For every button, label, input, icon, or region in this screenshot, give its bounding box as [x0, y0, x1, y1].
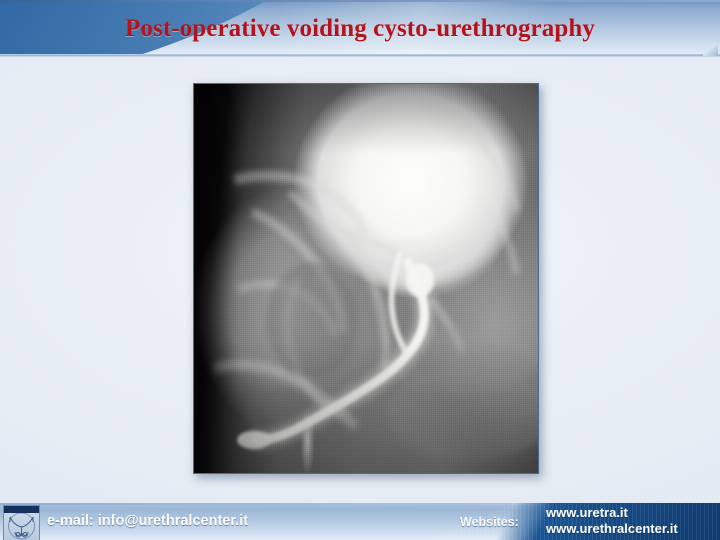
- footer-websites-list: www.uretra.it www.urethralcenter.it: [546, 505, 678, 537]
- radiograph-grain: [194, 84, 538, 473]
- urethral-center-logo: [3, 505, 40, 540]
- slide-footer: e-mail: info@urethralcenter.it Websites:…: [0, 503, 720, 540]
- radiograph-figure: [193, 83, 539, 474]
- footer-website-link-1[interactable]: www.uretra.it: [546, 505, 678, 521]
- logo-top-bar: [4, 506, 39, 513]
- footer-email[interactable]: e-mail: info@urethralcenter.it: [47, 513, 248, 529]
- footer-website-link-2[interactable]: www.urethralcenter.it: [546, 521, 678, 537]
- slide: Post-operative voiding cysto-urethrograp…: [0, 0, 720, 540]
- slide-header: Post-operative voiding cysto-urethrograp…: [0, 0, 720, 57]
- page-title: Post-operative voiding cysto-urethrograp…: [0, 0, 720, 57]
- footer-websites-label: Websites:: [460, 515, 519, 529]
